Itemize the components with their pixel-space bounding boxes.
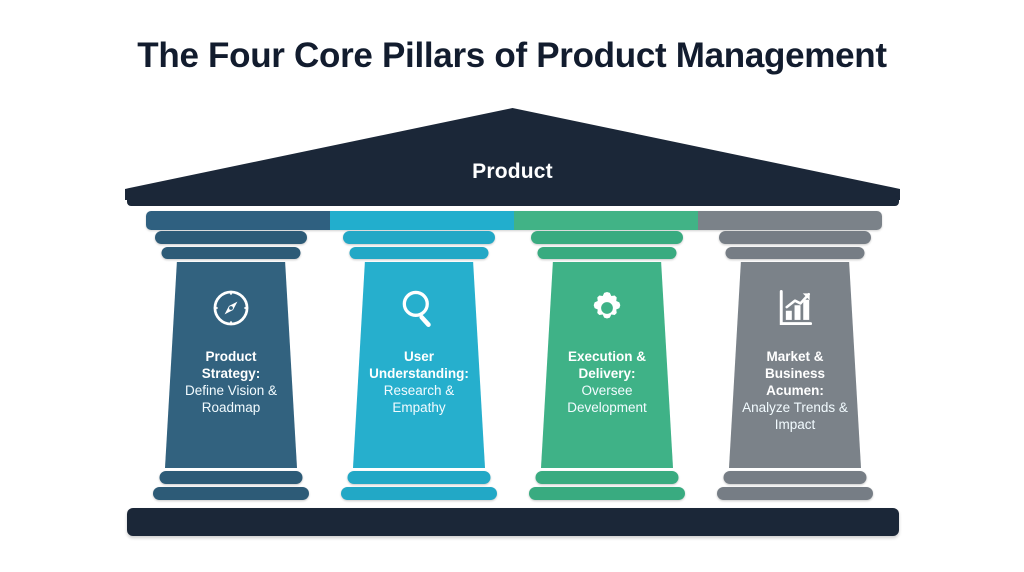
entablature-bar bbox=[127, 196, 899, 206]
pillar-base-lower bbox=[717, 487, 873, 500]
pillar-text: User Understanding: Research & Empathy bbox=[363, 348, 475, 416]
architrave-segment-2 bbox=[330, 211, 514, 230]
pillar-execution-delivery[interactable]: Execution & Delivery: Oversee Developmen… bbox=[524, 231, 690, 503]
pediment: Product bbox=[125, 108, 900, 200]
pillar-capital-upper bbox=[719, 231, 871, 244]
temple-diagram: Product bbox=[0, 0, 1024, 572]
pillar-capital-lower bbox=[162, 247, 301, 259]
pillar-market-business-acumen[interactable]: Market & Business Acumen: Analyze Trends… bbox=[712, 231, 878, 503]
pillar-shaft: Execution & Delivery: Oversee Developmen… bbox=[541, 262, 673, 468]
pillar-shaft: Market & Business Acumen: Analyze Trends… bbox=[729, 262, 861, 468]
pillar-title: Product Strategy: bbox=[175, 348, 287, 382]
compass-icon bbox=[209, 286, 253, 330]
pillar-capital-lower bbox=[538, 247, 677, 259]
pillar-capital-upper bbox=[343, 231, 495, 244]
pillar-capital-upper bbox=[155, 231, 307, 244]
pillar-shaft: User Understanding: Research & Empathy bbox=[353, 262, 485, 468]
pillar-base-upper bbox=[348, 471, 491, 484]
pillar-user-understanding[interactable]: User Understanding: Research & Empathy bbox=[336, 231, 502, 503]
gear-icon bbox=[585, 286, 629, 330]
bar-chart-growth-icon bbox=[773, 286, 817, 330]
pillar-product-strategy[interactable]: Product Strategy: Define Vision & Roadma… bbox=[148, 231, 314, 503]
pillar-capital-lower bbox=[726, 247, 865, 259]
pillar-base-upper bbox=[536, 471, 679, 484]
magnifier-icon bbox=[397, 286, 441, 330]
pillar-subtitle: Analyze Trends & Impact bbox=[739, 399, 851, 433]
pillar-subtitle: Define Vision & Roadmap bbox=[175, 382, 287, 416]
pillar-base-upper bbox=[160, 471, 303, 484]
pillar-capital-lower bbox=[350, 247, 489, 259]
architrave-segment-1 bbox=[146, 211, 330, 230]
pillar-base-upper bbox=[724, 471, 867, 484]
plinth-base bbox=[127, 508, 899, 536]
architrave-band bbox=[146, 211, 882, 230]
pillar-title: Execution & Delivery: bbox=[551, 348, 663, 382]
pillar-text: Execution & Delivery: Oversee Developmen… bbox=[551, 348, 663, 416]
pillar-title: User Understanding: bbox=[363, 348, 475, 382]
infographic-canvas: The Four Core Pillars of Product Managem… bbox=[0, 0, 1024, 572]
pillar-shaft: Product Strategy: Define Vision & Roadma… bbox=[165, 262, 297, 468]
pillar-base-lower bbox=[341, 487, 497, 500]
pillar-title: Market & Business Acumen: bbox=[739, 348, 851, 399]
pillar-base-lower bbox=[153, 487, 309, 500]
pillar-subtitle: Research & Empathy bbox=[363, 382, 475, 416]
architrave-segment-4 bbox=[698, 211, 882, 230]
pillar-text: Market & Business Acumen: Analyze Trends… bbox=[739, 348, 851, 433]
pillar-base-lower bbox=[529, 487, 685, 500]
pediment-shape bbox=[125, 108, 900, 200]
pediment-label: Product bbox=[125, 160, 900, 184]
architrave-segment-3 bbox=[514, 211, 698, 230]
pillar-subtitle: Oversee Development bbox=[551, 382, 663, 416]
pillar-text: Product Strategy: Define Vision & Roadma… bbox=[175, 348, 287, 416]
pillar-capital-upper bbox=[531, 231, 683, 244]
